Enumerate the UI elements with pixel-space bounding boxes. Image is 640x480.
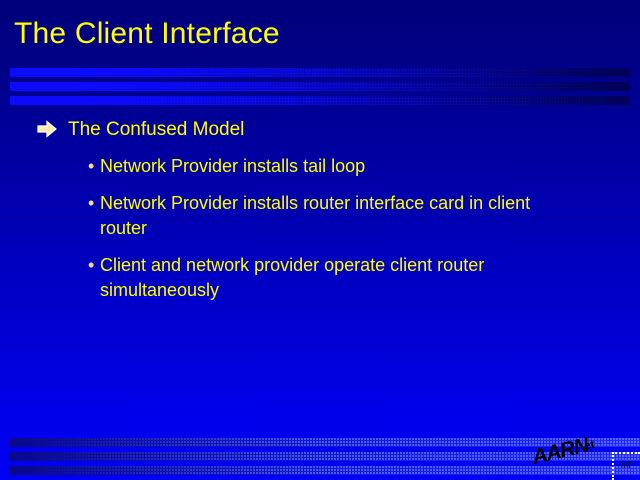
list-item: • Client and network provider operate cl…: [0, 253, 640, 303]
decorative-bar: [10, 68, 630, 77]
slide-body: The Confused Model • Network Provider in…: [0, 118, 640, 315]
hollow-right-arrow-icon: [36, 119, 58, 141]
list-item: • Network Provider installs router inter…: [0, 191, 640, 241]
page-number-box: ##: [612, 452, 640, 480]
slide-canvas: The Client Interface The Confused Model …: [0, 0, 640, 480]
aarnet-logo: AARN et: [533, 437, 605, 471]
svg-text:et: et: [583, 437, 597, 453]
list-item: • Network Provider installs tail loop: [0, 154, 640, 179]
content-heading-label: The Confused Model: [68, 119, 244, 140]
decorative-bar: [10, 96, 630, 105]
content-heading: The Confused Model: [0, 118, 640, 142]
page-number: ##: [621, 460, 631, 472]
top-decorative-bars: [10, 68, 630, 105]
bullet-marker-icon: •: [88, 191, 96, 216]
bullet-marker-icon: •: [88, 154, 96, 179]
slide-title: The Client Interface: [14, 16, 280, 52]
bullet-list: • Network Provider installs tail loop • …: [0, 154, 640, 303]
bullet-marker-icon: •: [88, 253, 96, 278]
decorative-bar: [10, 82, 630, 91]
list-item-label: Client and network provider operate clie…: [100, 255, 484, 300]
list-item-label: Network Provider installs router interfa…: [100, 193, 530, 238]
list-item-label: Network Provider installs tail loop: [100, 156, 365, 176]
